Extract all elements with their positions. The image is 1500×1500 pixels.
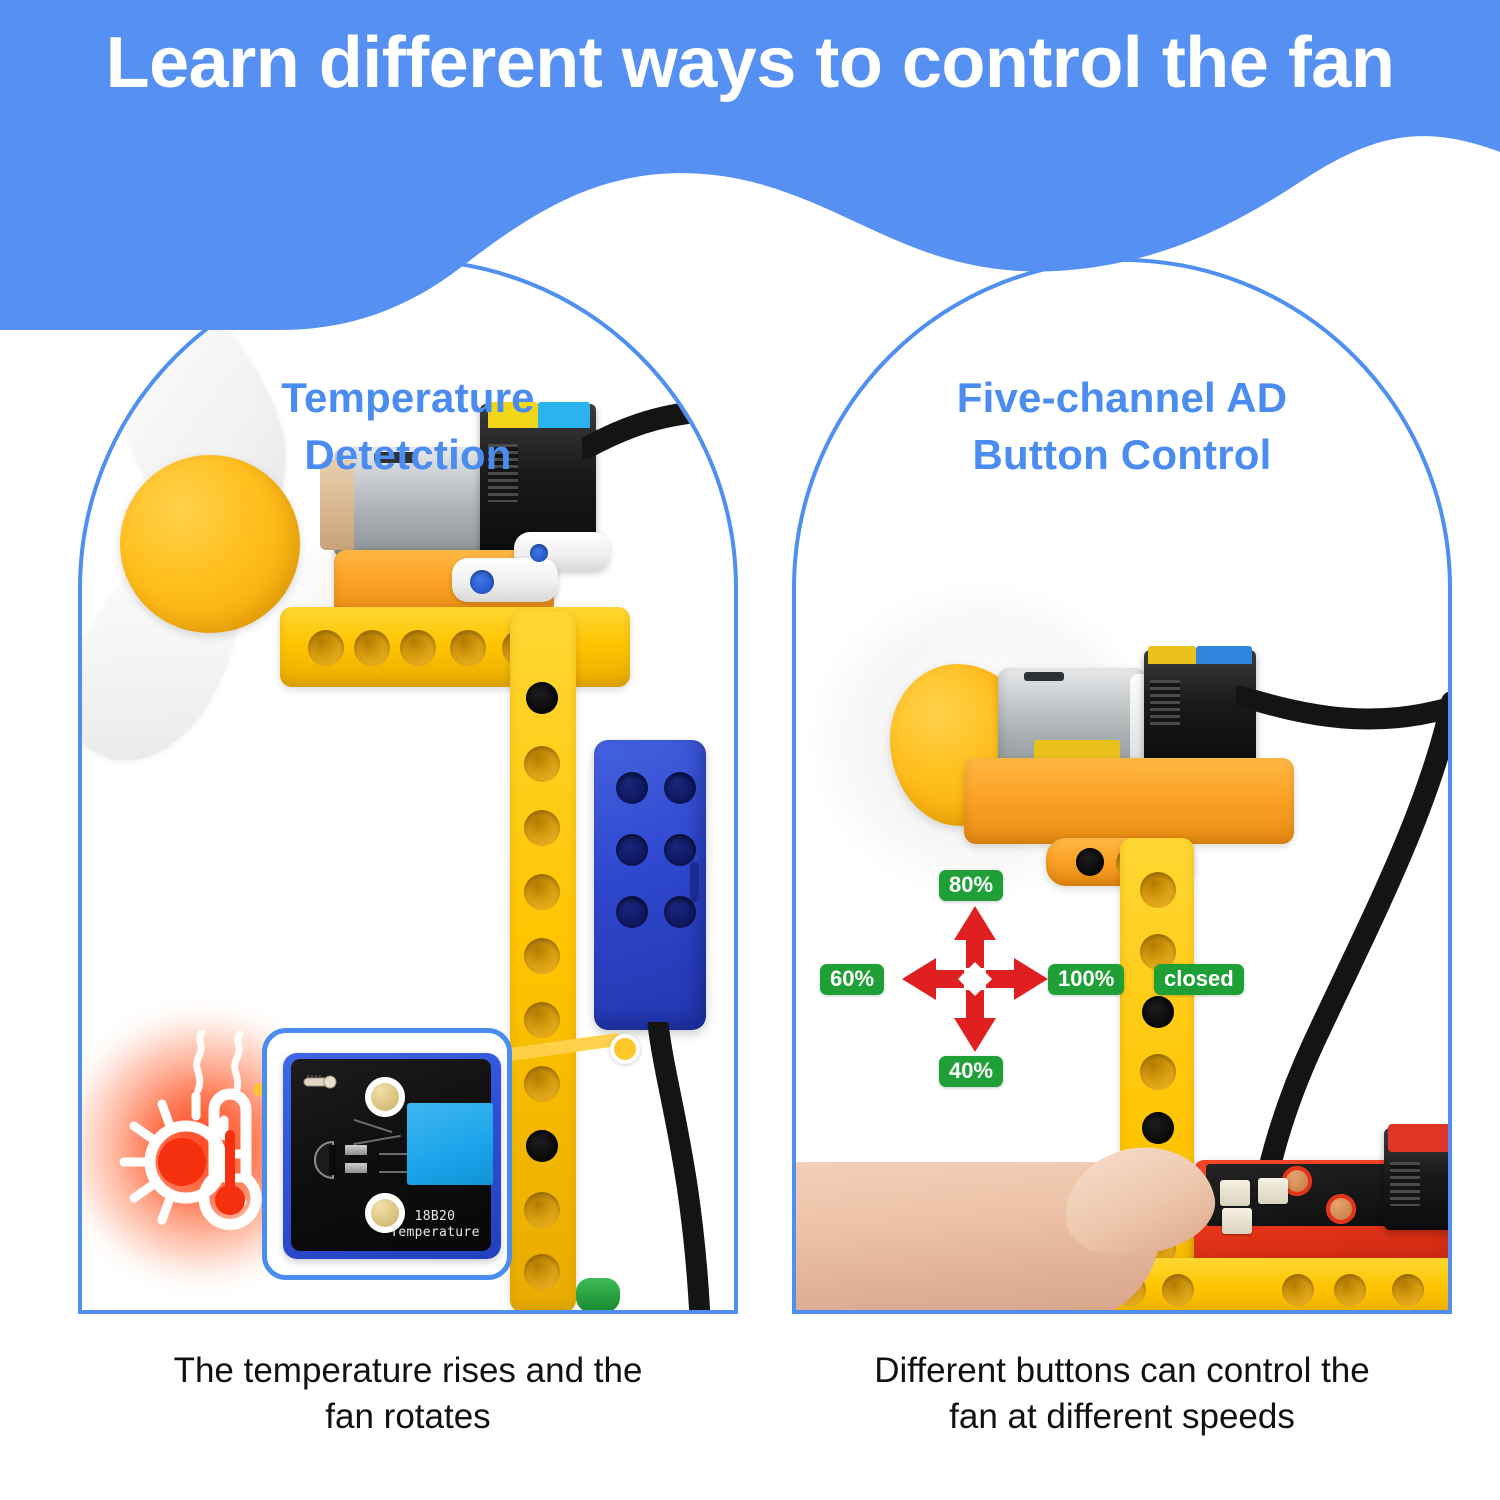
post-hole xyxy=(524,1192,560,1228)
page-title: Learn different ways to control the fan xyxy=(0,22,1500,105)
caption-left-line2: fan rotates xyxy=(68,1394,748,1440)
post-hole xyxy=(524,938,560,974)
connector-vent xyxy=(1390,1162,1420,1206)
module-mounting-pad xyxy=(1326,1194,1356,1224)
four-way-arrow-icon xyxy=(896,900,1054,1058)
speed-control-cluster: 80% 60% 100% 40% closed xyxy=(810,882,1140,1072)
tactile-button[interactable] xyxy=(1258,1178,1288,1204)
badge-speed-left[interactable]: 60% xyxy=(820,964,884,995)
connector-vent xyxy=(1150,680,1180,728)
post-hole xyxy=(524,746,560,782)
blue-block-hole xyxy=(664,772,696,804)
panel-right-title: Five-channel AD Button Control xyxy=(796,370,1448,483)
post-hole xyxy=(524,810,560,846)
beam-hole xyxy=(450,630,486,666)
base-hole xyxy=(1392,1274,1424,1306)
pin-blue-core xyxy=(470,570,494,594)
beam-hole xyxy=(308,630,344,666)
panel-right-title-line2: Button Control xyxy=(796,427,1448,484)
header-band: Learn different ways to control the fan xyxy=(0,0,1500,330)
tactile-button[interactable] xyxy=(1220,1180,1250,1206)
sensor-chip xyxy=(407,1103,493,1185)
sensor-label-line2: Temperature xyxy=(385,1225,485,1241)
blue-block-hole xyxy=(616,896,648,928)
sensor-callout-card: 18B20 Temperature xyxy=(262,1028,512,1280)
panel-right-title-line1: Five-channel AD xyxy=(796,370,1448,427)
pin-blue-core xyxy=(530,544,548,562)
post-hole-dark xyxy=(1142,996,1174,1028)
beam-hole xyxy=(400,630,436,666)
post-hole xyxy=(524,1002,560,1038)
smd-resistor xyxy=(345,1145,367,1155)
blue-block-hole xyxy=(664,834,696,866)
badge-speed-down[interactable]: 40% xyxy=(939,1056,1003,1087)
blue-block-hole xyxy=(616,834,648,866)
post-hole xyxy=(524,1254,560,1290)
white-axle-pin-lower xyxy=(452,558,558,602)
post-hole xyxy=(1140,1054,1176,1090)
base-hole xyxy=(1282,1274,1314,1306)
caption-left-line1: The temperature rises and the xyxy=(68,1348,748,1394)
sensor-label: 18B20 Temperature xyxy=(385,1209,485,1242)
badge-speed-up[interactable]: 80% xyxy=(939,870,1003,901)
base-hole xyxy=(1334,1274,1366,1306)
post-hole xyxy=(1140,872,1176,908)
green-pin xyxy=(576,1278,620,1312)
connector-tab-red xyxy=(1388,1124,1452,1152)
badge-speed-right[interactable]: 100% xyxy=(1048,964,1124,995)
caption-right-line1: Different buttons can control the xyxy=(782,1348,1462,1394)
sun-thermometer-icon xyxy=(110,1082,280,1242)
caption-button-control: Different buttons can control the fan at… xyxy=(782,1348,1462,1439)
caption-right-line2: fan at different speeds xyxy=(782,1394,1462,1440)
panel-five-channel-ad-button-control: Five-channel AD Button Control xyxy=(792,258,1452,1314)
dc-motor-vent-slot xyxy=(1024,672,1064,681)
post-hole xyxy=(524,874,560,910)
caption-temperature-detection: The temperature rises and the fan rotate… xyxy=(68,1348,748,1439)
panel-left-title: Temperature Detetction xyxy=(82,370,734,483)
connector-tab-yellow xyxy=(1148,646,1196,664)
panel-temperature-detection: Temperature Detetction xyxy=(78,258,738,1314)
black-cable-bottom-left xyxy=(580,1022,738,1314)
sensor-component-outline xyxy=(303,1139,351,1181)
panel-left-title-line1: Temperature xyxy=(82,370,734,427)
callout-pointer-dot xyxy=(610,1034,640,1064)
post-hole xyxy=(524,1066,560,1102)
beam-hole xyxy=(354,630,390,666)
mounting-pad xyxy=(365,1077,405,1117)
base-hole xyxy=(1162,1274,1194,1306)
tactile-button[interactable] xyxy=(1222,1208,1252,1234)
badge-speed-closed[interactable]: closed xyxy=(1154,964,1244,995)
post-hole-dark xyxy=(1142,1112,1174,1144)
thermometer-icon xyxy=(303,1073,337,1091)
connector-hole-dark xyxy=(1076,848,1104,876)
blue-block-slot xyxy=(690,862,699,902)
sensor-label-line1: 18B20 xyxy=(385,1209,485,1225)
post-hole-dark xyxy=(526,1130,558,1162)
post-hole-dark xyxy=(526,682,558,714)
smd-resistor xyxy=(345,1163,367,1173)
panel-left-title-line2: Detetction xyxy=(82,427,734,484)
blue-block-hole xyxy=(616,772,648,804)
